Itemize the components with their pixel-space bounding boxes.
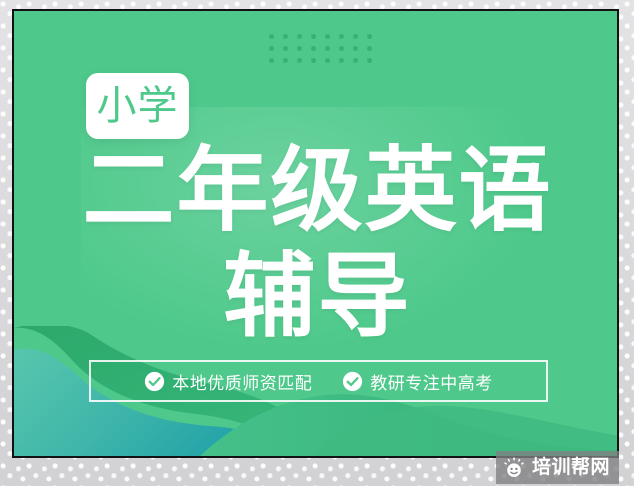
poster-title-line-1: 二年级英语	[14, 145, 619, 237]
feature-item-1: 本地优质师资匹配	[144, 369, 312, 394]
dot	[325, 58, 330, 63]
dot-grid-ornament	[264, 30, 376, 66]
check-circle-icon	[144, 371, 165, 392]
dot	[325, 34, 330, 39]
dot	[269, 58, 274, 63]
page-background: 小学 二年级英语 辅导 本地优质师资匹配 教研专注中高考	[0, 0, 634, 486]
course-poster-card: 小学 二年级英语 辅导 本地优质师资匹配 教研专注中高考	[12, 9, 619, 458]
dot	[339, 34, 344, 39]
dot	[339, 46, 344, 51]
dot	[339, 58, 344, 63]
feature-item-1-label: 本地优质师资匹配	[172, 369, 312, 394]
sun-face-icon	[503, 457, 525, 479]
dot	[367, 46, 372, 51]
dot	[353, 46, 358, 51]
dot	[283, 58, 288, 63]
dot	[311, 34, 316, 39]
dot	[311, 58, 316, 63]
dot	[297, 58, 302, 63]
feature-bar: 本地优质师资匹配 教研专注中高考	[89, 360, 548, 402]
feature-item-2-label: 教研专注中高考	[370, 369, 493, 394]
dot	[283, 34, 288, 39]
dot	[269, 46, 274, 51]
site-watermark: 培训帮网	[496, 451, 619, 484]
grade-level-badge: 小学	[86, 73, 189, 139]
dot	[367, 34, 372, 39]
check-circle-icon	[342, 371, 363, 392]
site-watermark-label: 培训帮网	[532, 458, 610, 477]
dot	[311, 46, 316, 51]
dot	[325, 46, 330, 51]
grade-level-badge-label: 小学	[97, 86, 179, 126]
dot	[269, 34, 274, 39]
dot	[283, 46, 288, 51]
dot	[297, 46, 302, 51]
dot	[297, 34, 302, 39]
dot	[353, 34, 358, 39]
dot	[353, 58, 358, 63]
feature-item-2: 教研专注中高考	[342, 369, 493, 394]
dot	[367, 58, 372, 63]
